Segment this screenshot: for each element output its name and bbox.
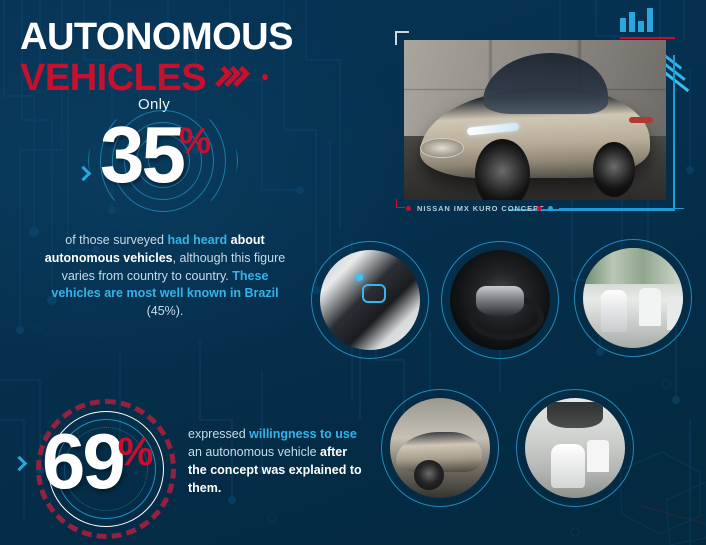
stat-69-body: expressed willingness to use an autonomo… <box>188 425 368 497</box>
red-dot-icon <box>262 74 268 80</box>
stat-69-number: 69 <box>42 424 123 498</box>
stat-35-body: of those surveyed had heard about autono… <box>40 232 290 321</box>
caption-dot-icon <box>406 206 411 211</box>
chevron-right-icon <box>216 67 242 86</box>
body35-seg-0: of those surveyed <box>65 233 167 247</box>
caption-blue-dot-icon <box>548 206 553 211</box>
hero-photo <box>404 40 666 200</box>
caption-rule-line <box>559 208 684 210</box>
stat-35-number: 35 <box>100 117 183 193</box>
hero-image <box>404 40 666 200</box>
stat-69-percent: % <box>118 432 154 472</box>
center-console-thumb[interactable] <box>320 250 420 350</box>
headline-line-1: AUTONOMOUS <box>20 18 293 57</box>
body69-seg-2: an autonomous vehicle <box>188 445 320 459</box>
stat-35-percent: % <box>179 123 211 159</box>
interior-seating-thumb[interactable] <box>525 398 625 498</box>
caption-red-dot-icon <box>537 206 542 211</box>
body35-seg-1: had heard <box>167 233 227 247</box>
chevron-right-icon-69 <box>12 456 28 472</box>
steering-wheel-thumb[interactable] <box>450 250 550 350</box>
caption-corner-marker <box>396 199 405 208</box>
bar-chart-underline <box>620 37 675 39</box>
body69-seg-1: willingness to use <box>249 427 357 441</box>
infographic-poster: AUTONOMOUS VEHICLES Only 35 % of those s… <box>0 0 706 545</box>
stat-69-value: 69 % <box>42 424 153 498</box>
bar-chart-icon <box>620 8 675 39</box>
exterior-front-thumb[interactable] <box>390 398 490 498</box>
hero-caption: NISSAN IMX KURO CONCEPT <box>406 204 544 213</box>
hero-caption-text: NISSAN IMX KURO CONCEPT <box>417 204 544 213</box>
body69-seg-0: expressed <box>188 427 249 441</box>
caption-dot-rule <box>537 206 684 211</box>
stat-35-value: 35 % <box>100 117 211 193</box>
headline-line-2: VEHICLES <box>20 59 206 98</box>
headline-block: AUTONOMOUS VEHICLES <box>20 18 293 98</box>
cabin-seats-thumb[interactable] <box>583 248 683 348</box>
body35-seg-6: (45%). <box>147 304 184 318</box>
